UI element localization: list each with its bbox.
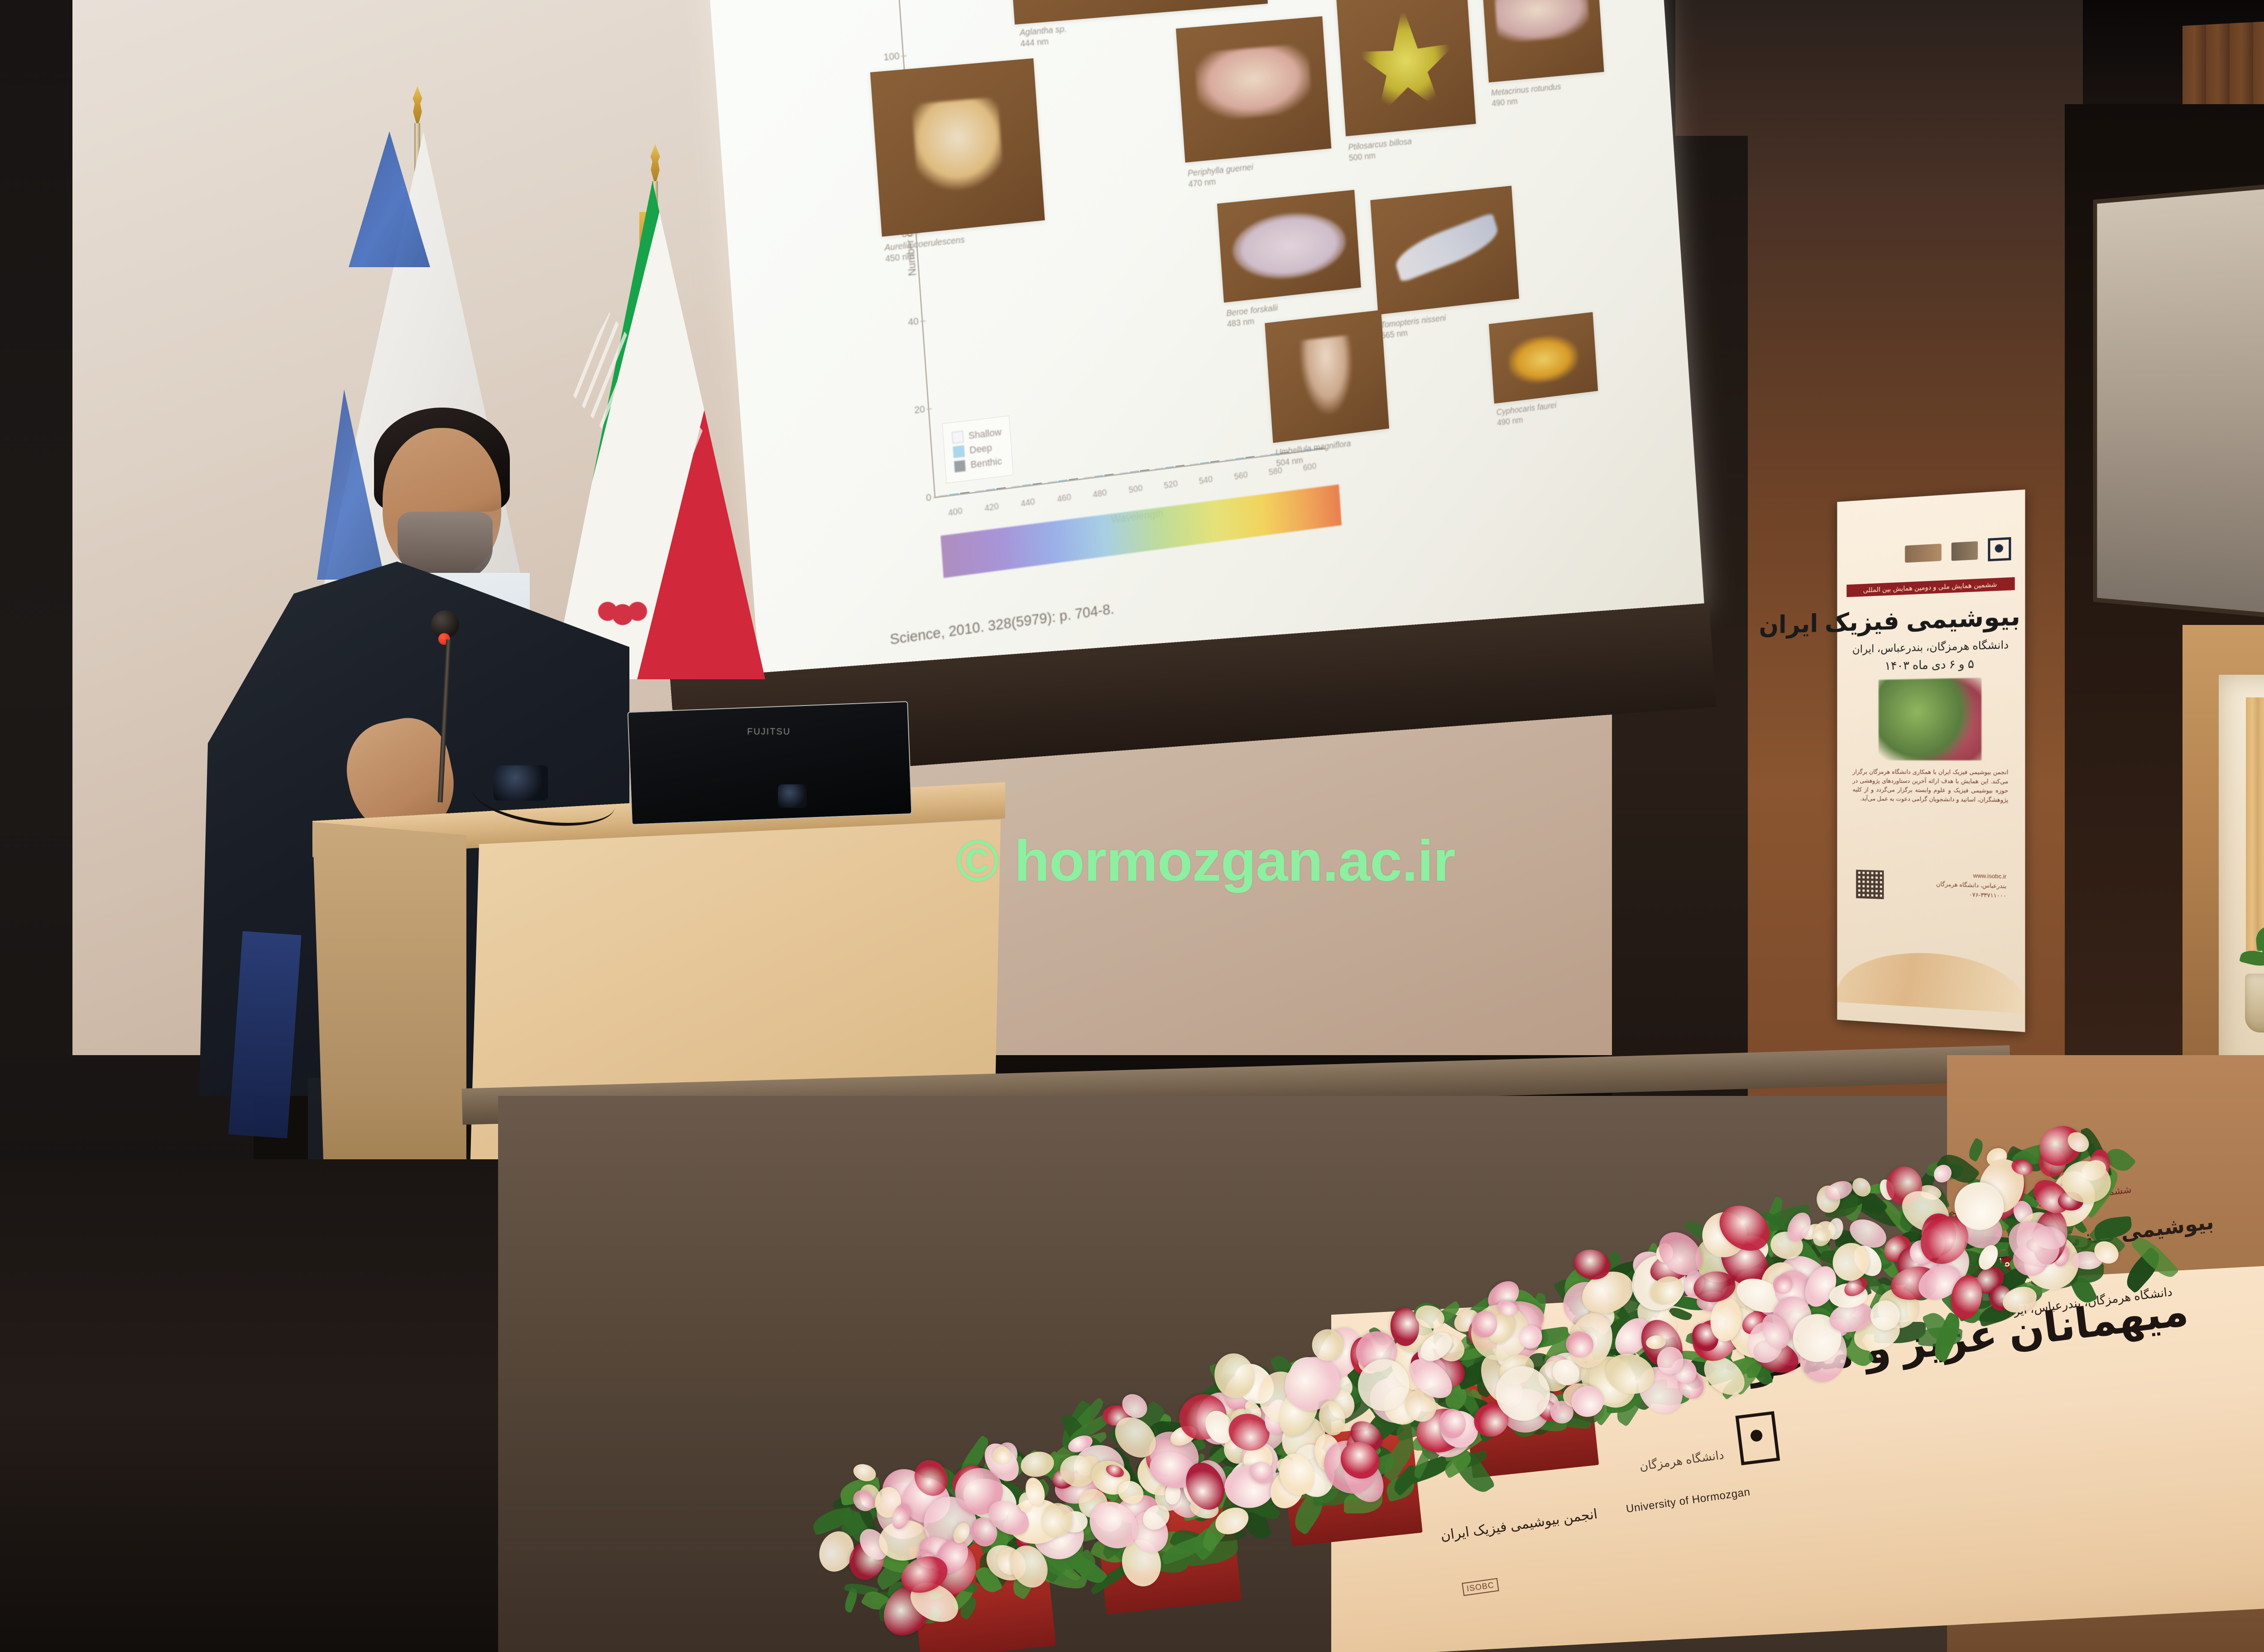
x-tick: 500 [1128,483,1143,495]
specimen-photo [1217,190,1361,303]
rollup-title: بیوشیمی فیزیک ایران [1842,601,2020,637]
bar-deep [1130,471,1139,472]
x-tick: 400 [947,506,963,519]
bar-group [1048,478,1078,483]
rollup-subtitle: دانشگاه هرمزگان، بندرعباس، ایران [1842,638,2020,656]
specimen-photo [1482,0,1604,82]
x-tick: 420 [984,501,999,514]
chart-legend: Shallow Deep Benthic [942,416,1014,484]
bar-shallow [1225,459,1234,461]
rollup-floral-decoration [1879,678,1981,760]
specimen-photo [870,58,1045,237]
bar-deep [1200,461,1209,463]
x-tick: 460 [1056,492,1072,505]
x-tick: 520 [1163,479,1178,491]
bar-benthic [1104,474,1113,475]
laptop-brand-logo: FUJITSU [747,727,791,737]
specimen-photo [1265,310,1389,443]
bar-group [1155,465,1185,469]
webcam [778,784,807,808]
stage-banner-hormozgan-logo [1735,1410,1787,1474]
bar-group [1012,483,1042,487]
specimen-caption: Aglantha sp.444 nm [1019,24,1068,50]
legend-entry: Benthic [954,455,1004,473]
legend-swatch-deep [953,445,964,458]
specimen-glow [1230,208,1348,284]
y-tick: 40 [885,315,919,330]
x-tick: 480 [1092,488,1107,500]
bar-benthic [1140,469,1149,471]
flag-emblem [589,584,657,639]
bar-group [1190,461,1219,465]
specimen-photo [1176,16,1331,163]
bar-deep [1058,480,1068,481]
specimen-photo [1370,186,1519,315]
bar-shallow [1190,463,1199,465]
floor-left [0,1159,498,1652]
x-tick: 440 [1021,497,1036,509]
specimen-glow [1351,1,1461,120]
bar-benthic [1033,483,1042,485]
bar-deep [1235,457,1244,459]
association-logo-icon [1905,543,1942,562]
y-tick: 0 [898,492,931,507]
bar-group [1119,469,1149,474]
rollup-date: ۵ و ۶ دی ماه ۱۴۰۳ [1842,656,2020,674]
bar-shallow [1084,476,1093,478]
legend-swatch-benthic [954,460,966,472]
bar-group [1084,474,1114,478]
bar-group [1225,456,1254,461]
laptop-lid [627,701,912,825]
legend-entry: Deep [953,441,1002,458]
photograph-scene: light produced by a biochemical reaction… [0,0,2264,1652]
rollup-bottom-wave [1837,949,2025,1013]
specimen-glow [1194,43,1313,122]
specimen-glow [1299,335,1356,418]
bar-group [938,492,969,496]
rollup-red-bar: ششمین همایش ملی و دومین همایش بین المللی [1847,577,2015,597]
y-tick: 100 [866,50,900,65]
legend-entry: Shallow [952,426,1002,443]
specimen-glow [1494,0,1590,43]
y-tick: 20 [892,403,926,419]
bar-group [975,487,1006,492]
bar-shallow [938,495,948,497]
bar-benthic [1245,456,1254,458]
bar-benthic [960,492,969,494]
bar-shallow [1260,454,1269,456]
specimen-glow [1391,212,1502,283]
flower-bloom [1870,1300,1900,1330]
specimen-photo [1489,312,1598,403]
bar-benthic [1175,465,1185,466]
bar-deep [986,489,995,491]
rollup-banner: ششمین همایش ملی و دومین همایش بین المللی… [1837,490,2025,1032]
legend-swatch-shallow [952,431,964,443]
bar-deep [949,493,959,495]
plant-pot [2245,974,2264,1032]
legend-label: Benthic [970,456,1002,471]
legend-label: Deep [969,442,992,456]
specimen-glow [912,97,1004,197]
bar-benthic [1069,478,1078,480]
bar-deep [1165,466,1174,468]
x-tick: 540 [1199,475,1214,487]
hormozgan-logo-icon [1988,537,2011,562]
bar-shallow [1119,472,1128,474]
rollup-body-text: انجمن بیوشیمی فیزیک ایران با همکاری دانش… [1852,768,2008,860]
qr-code[interactable] [1856,870,1884,899]
rollup-logo-row [1885,535,2011,569]
partner-logo-icon [1952,541,1978,561]
bar-shallow [1012,485,1021,488]
bar-deep [1022,484,1031,486]
rollup-footer-contact: www.isobc.ir بندرعباس، دانشگاه هرمزگان ۰… [1894,869,2006,901]
bar-shallow [1155,467,1164,469]
watermark: © hormozgan.ac.ir [956,828,1455,894]
potted-plant [2232,883,2264,1032]
bar-deep [1094,475,1103,477]
bar-shallow [1048,481,1057,483]
legend-label: Shallow [968,426,1002,442]
specimen-glow [1507,332,1579,386]
plant-leaf [2254,926,2264,951]
secondary-screen [2093,180,2264,622]
bar-shallow [975,490,984,492]
specimen-photo [1336,0,1476,136]
x-tick: 560 [1233,470,1248,482]
bar-benthic [997,487,1006,490]
bar-benthic [1210,461,1219,462]
